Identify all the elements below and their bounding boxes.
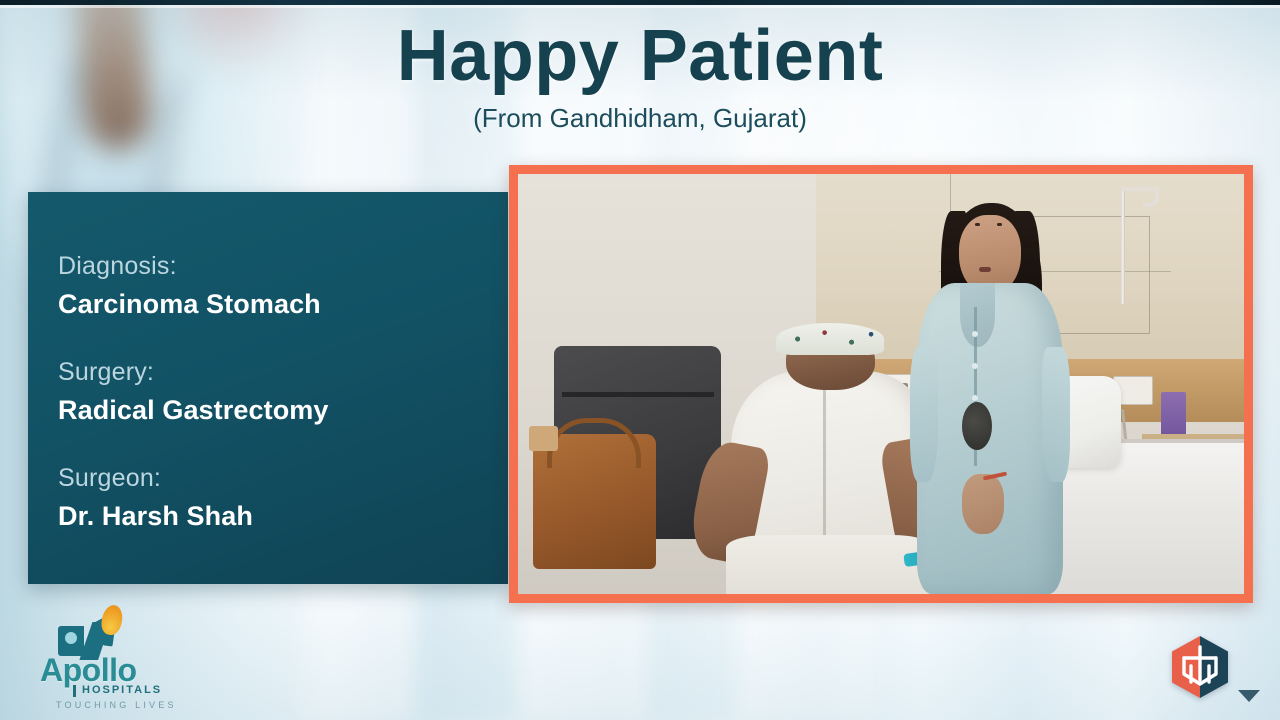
patient-cap [776, 323, 885, 355]
headline-block: Happy Patient (From Gandhidham, Gujarat) [0, 20, 1280, 134]
diagnosis-label: Diagnosis: [58, 250, 508, 284]
hexagon-shield-icon [1168, 634, 1232, 700]
apollo-hospitals-logo: Apollo HOSPITALS TOUCHING LIVES [34, 612, 184, 712]
info-row-surgery: Surgery: Radical Gastrectomy [58, 356, 508, 428]
slide-canvas: Happy Patient (From Gandhidham, Gujarat)… [0, 0, 1280, 720]
chair-slat [562, 392, 714, 397]
iv-pole [1121, 187, 1125, 305]
patient-info-panel: Diagnosis: Carcinoma Stomach Surgery: Ra… [28, 192, 508, 584]
apollo-subtitle: HOSPITALS [82, 684, 162, 696]
patient-photo [518, 174, 1244, 594]
apollo-tagline: TOUCHING LIVES [56, 700, 177, 710]
patient-shirt-placket [823, 384, 826, 540]
surgery-label: Surgery: [58, 356, 508, 390]
attendant-neckline [960, 283, 995, 347]
iv-hook [1121, 187, 1159, 191]
info-row-surgeon: Surgeon: Dr. Harsh Shah [58, 462, 508, 534]
surgery-value: Radical Gastrectomy [58, 392, 508, 428]
attendant-clasped-hands [962, 474, 1004, 534]
attendant-right-sleeve [1042, 347, 1070, 483]
patient-video-frame[interactable] [509, 165, 1253, 603]
diagnosis-value: Carcinoma Stomach [58, 286, 508, 322]
attendant-mouth [979, 267, 991, 272]
page-subtitle: (From Gandhidham, Gujarat) [0, 103, 1280, 134]
bag-clasp [529, 426, 558, 451]
surgeon-value: Dr. Harsh Shah [58, 498, 508, 534]
page-title: Happy Patient [0, 20, 1280, 93]
info-row-diagnosis: Diagnosis: Carcinoma Stomach [58, 250, 508, 322]
top-highlight-line [0, 5, 1280, 8]
attendant-dupatta-knot [962, 402, 992, 450]
surgeon-label: Surgeon: [58, 462, 508, 496]
attendant-left-sleeve [910, 347, 938, 483]
attendant-figure [903, 195, 1077, 594]
scroll-down-chevron-icon[interactable] [1238, 690, 1260, 702]
